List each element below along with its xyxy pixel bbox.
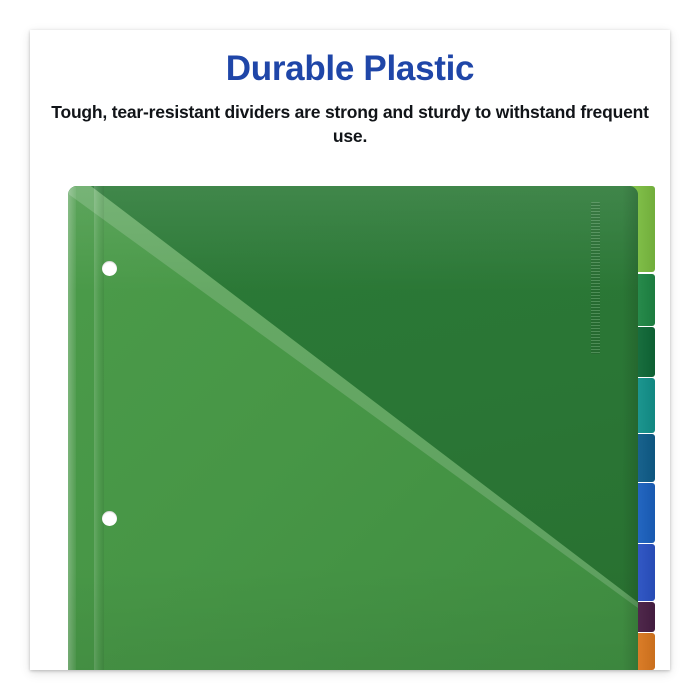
binder-hole-bottom bbox=[102, 511, 117, 526]
divider-sheet bbox=[68, 186, 638, 670]
sheet-spine-strip bbox=[94, 186, 104, 670]
product-image-card: Durable Plastic Tough, tear-resistant di… bbox=[30, 30, 670, 670]
sheet-left-edge-highlight bbox=[68, 186, 76, 670]
ribbed-hinge-strip bbox=[591, 202, 600, 354]
screenshot-stage: Durable Plastic Tough, tear-resistant di… bbox=[0, 0, 700, 700]
binder-hole-top bbox=[102, 261, 117, 276]
divider-assembly bbox=[30, 30, 670, 670]
